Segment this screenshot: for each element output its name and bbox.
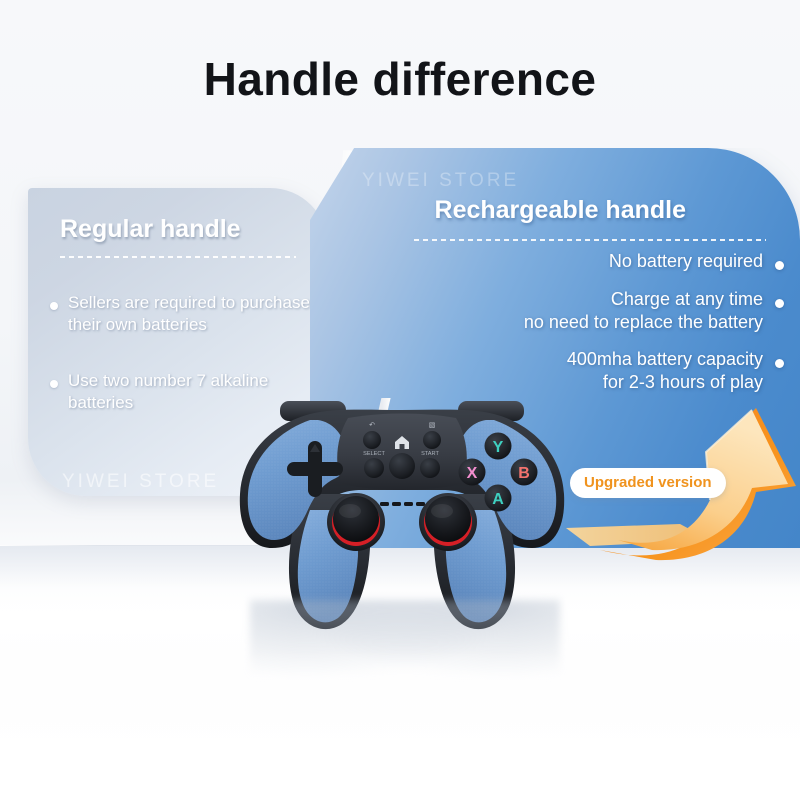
list-item: Sellers are required to purchase their o… [50, 292, 318, 336]
right-panel-divider [414, 239, 766, 241]
right-analog-stick [419, 493, 477, 551]
upgrade-arrow-group: Upgraded version [560, 400, 800, 575]
left-analog-stick [327, 493, 385, 551]
rechargeable-bullet-1: No battery required [609, 250, 763, 273]
back-button [363, 431, 381, 449]
capture-icon: ▧ [429, 422, 436, 429]
rechargeable-bullet-2: Charge at any timeno need to replace the… [524, 288, 763, 335]
regular-bullet-1: Sellers are required to purchase their o… [68, 292, 318, 336]
regular-handle-heading: Regular handle [60, 215, 241, 244]
start-button [420, 458, 440, 478]
button-x-label: X [467, 465, 478, 482]
list-item: No battery required [609, 250, 784, 273]
capture-button [423, 431, 441, 449]
list-item: Charge at any timeno need to replace the… [524, 288, 784, 335]
button-y-label: Y [493, 439, 504, 456]
back-icon: ↶ [369, 422, 375, 429]
bullet-dot-icon [775, 261, 784, 270]
rechargeable-handle-heading: Rechargeable handle [435, 196, 686, 225]
rechargeable-bullet-3: 400mha battery capacityfor 2-3 hours of … [567, 348, 763, 395]
bullet-dot-icon [775, 299, 784, 308]
bullet-dot-icon [50, 380, 58, 388]
start-label: START [421, 451, 439, 457]
button-b-label: B [518, 465, 530, 482]
select-label: SELECT [363, 451, 385, 457]
watermark-left: YIWEI STORE [62, 471, 219, 493]
home-button [389, 453, 415, 479]
watermark-right: YIWEI STORE [362, 170, 519, 192]
bullet-dot-icon [50, 302, 58, 310]
left-panel-divider [60, 256, 296, 258]
page-title: Handle difference [0, 52, 800, 106]
led-indicators [380, 502, 425, 506]
bullet-dot-icon [775, 359, 784, 368]
select-button [364, 458, 384, 478]
button-a-label: A [492, 491, 504, 508]
list-item: 400mha battery capacityfor 2-3 hours of … [567, 348, 784, 395]
upgraded-version-badge: Upgraded version [570, 468, 726, 498]
bottom-fade [0, 650, 800, 800]
infographic-canvas: Handle difference Regular handle Sellers… [0, 0, 800, 800]
